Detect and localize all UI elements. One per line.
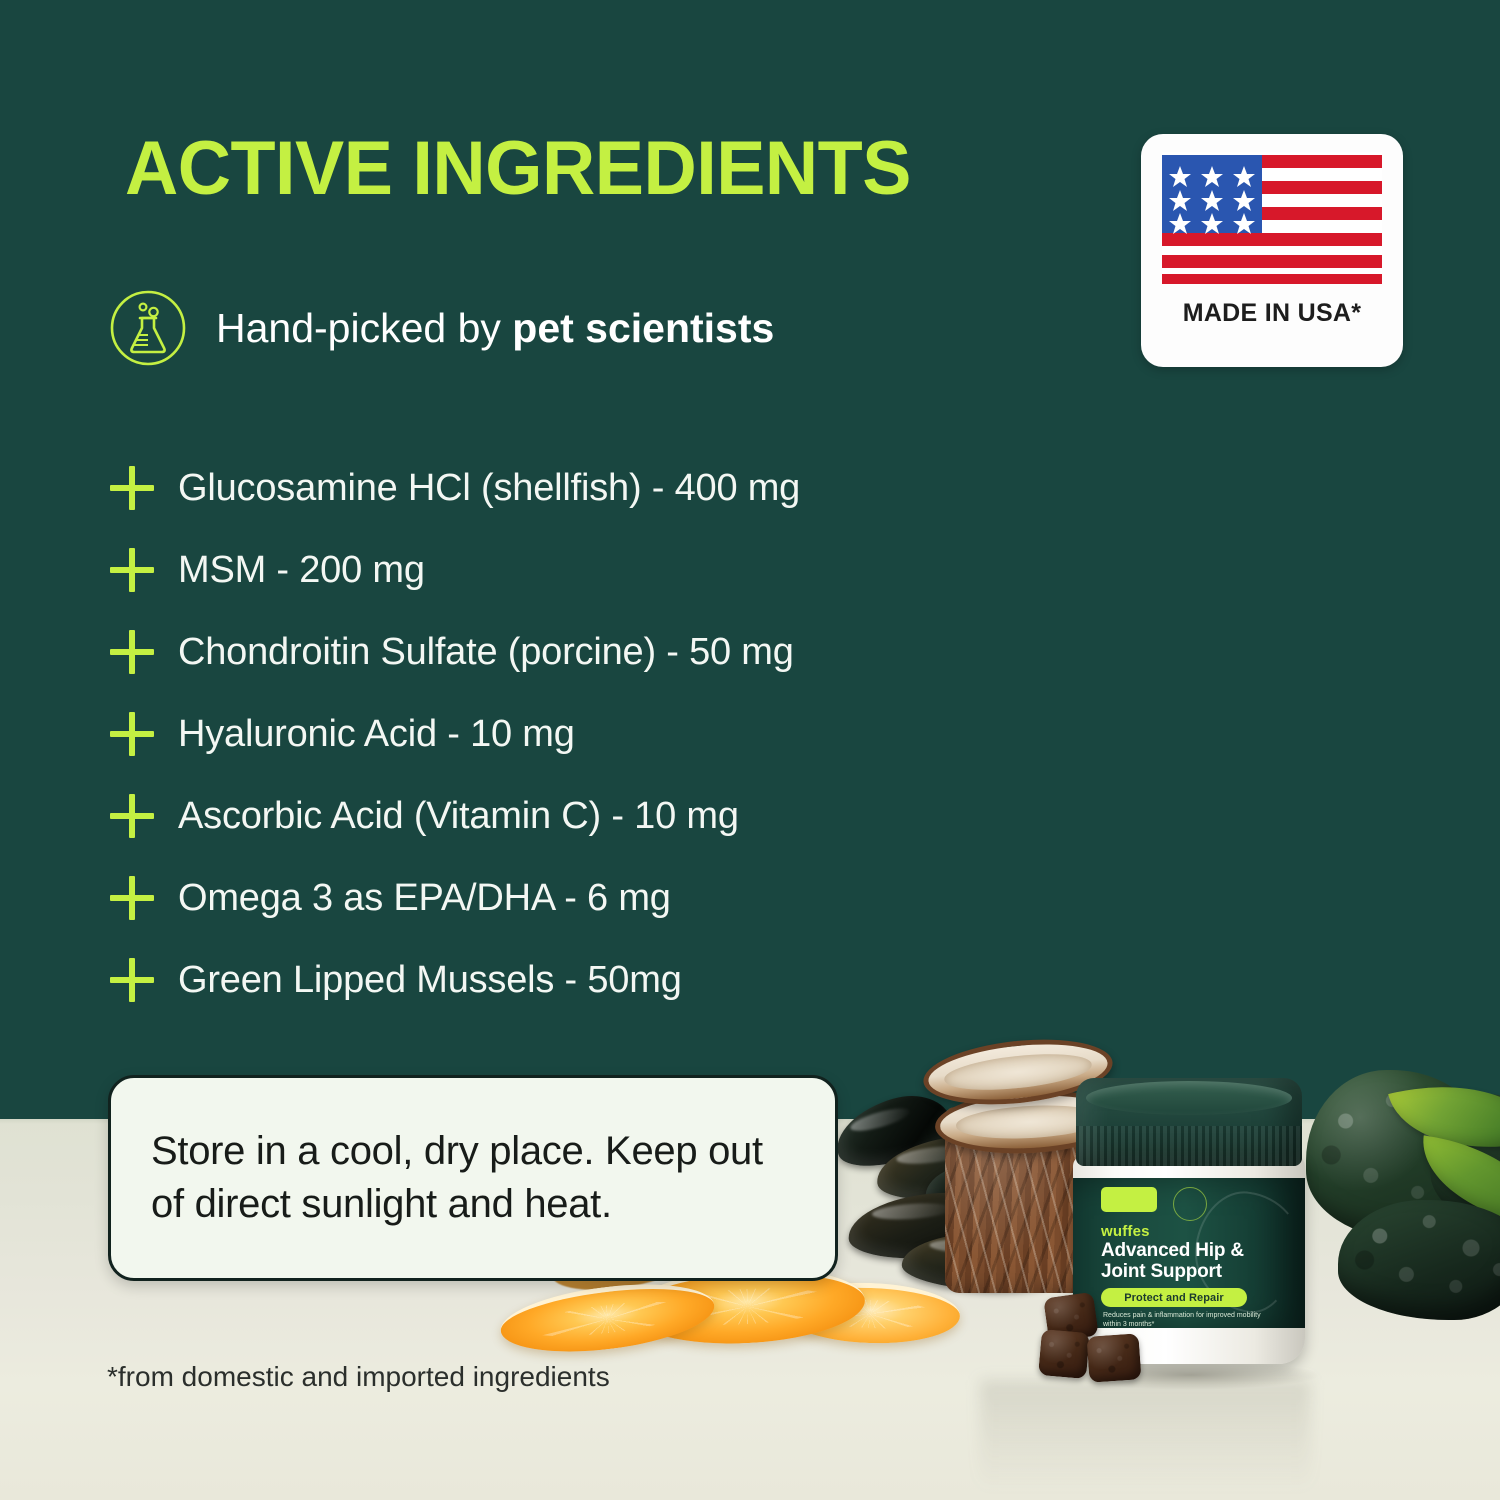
chew-piece (1038, 1329, 1090, 1379)
list-item: Omega 3 as EPA/DHA - 6 mg (110, 857, 1090, 939)
kale-leaves (1300, 1060, 1500, 1330)
made-in-usa-badge: MADE IN USA* (1141, 134, 1403, 367)
subhead-text: Hand-picked by pet scientists (216, 308, 774, 349)
ingredient-label: Chondroitin Sulfate (porcine) - 50 mg (178, 631, 794, 674)
plus-icon (110, 466, 154, 510)
storage-instructions-card: Store in a cool, dry place. Keep out of … (108, 1075, 838, 1281)
ingredient-label: Ascorbic Acid (Vitamin C) - 10 mg (178, 795, 739, 838)
list-item: Chondroitin Sulfate (porcine) - 50 mg (110, 611, 1090, 693)
soft-chews (1040, 1295, 1170, 1385)
chew-piece (1086, 1333, 1141, 1383)
us-flag-icon (1162, 152, 1382, 284)
plus-icon (110, 876, 154, 920)
list-item: MSM - 200 mg (110, 529, 1090, 611)
made-in-usa-caption: MADE IN USA* (1183, 299, 1362, 328)
storage-instructions-text: Store in a cool, dry place. Keep out of … (151, 1125, 795, 1231)
page-title: ACTIVE INGREDIENTS (125, 131, 911, 207)
plus-icon (110, 630, 154, 674)
ingredient-label: Glucosamine HCl (shellfish) - 400 mg (178, 467, 800, 510)
jar-seal-icon (1173, 1187, 1207, 1221)
flask-icon (108, 288, 188, 368)
footnote-text: *from domestic and imported ingredients (107, 1361, 610, 1393)
infographic-stage: ACTIVE INGREDIENTS Hand-picked by pet sc… (0, 0, 1500, 1500)
ingredient-label: MSM - 200 mg (178, 549, 425, 592)
plus-icon (110, 712, 154, 756)
jar-size-chip (1101, 1187, 1157, 1212)
jar-lid (1076, 1078, 1302, 1166)
ingredient-label: Omega 3 as EPA/DHA - 6 mg (178, 877, 671, 920)
table-reflection (980, 1380, 1310, 1490)
list-item: Ascorbic Acid (Vitamin C) - 10 mg (110, 775, 1090, 857)
subhead-row: Hand-picked by pet scientists (108, 288, 774, 368)
jar-title: Advanced Hip & Joint Support (1101, 1240, 1281, 1283)
orange-slice (497, 1274, 718, 1362)
ingredient-label: Hyaluronic Acid - 10 mg (178, 713, 575, 756)
subhead-plain: Hand-picked by (216, 305, 512, 351)
list-item: Hyaluronic Acid - 10 mg (110, 693, 1090, 775)
ingredients-list: Glucosamine HCl (shellfish) - 400 mg MSM… (110, 447, 1090, 1021)
kale-frill (1338, 1200, 1500, 1320)
plus-icon (110, 794, 154, 838)
jar-brand: wuffes (1101, 1223, 1150, 1240)
list-item: Glucosamine HCl (shellfish) - 400 mg (110, 447, 1090, 529)
plus-icon (110, 548, 154, 592)
subhead-bold: pet scientists (512, 305, 774, 351)
